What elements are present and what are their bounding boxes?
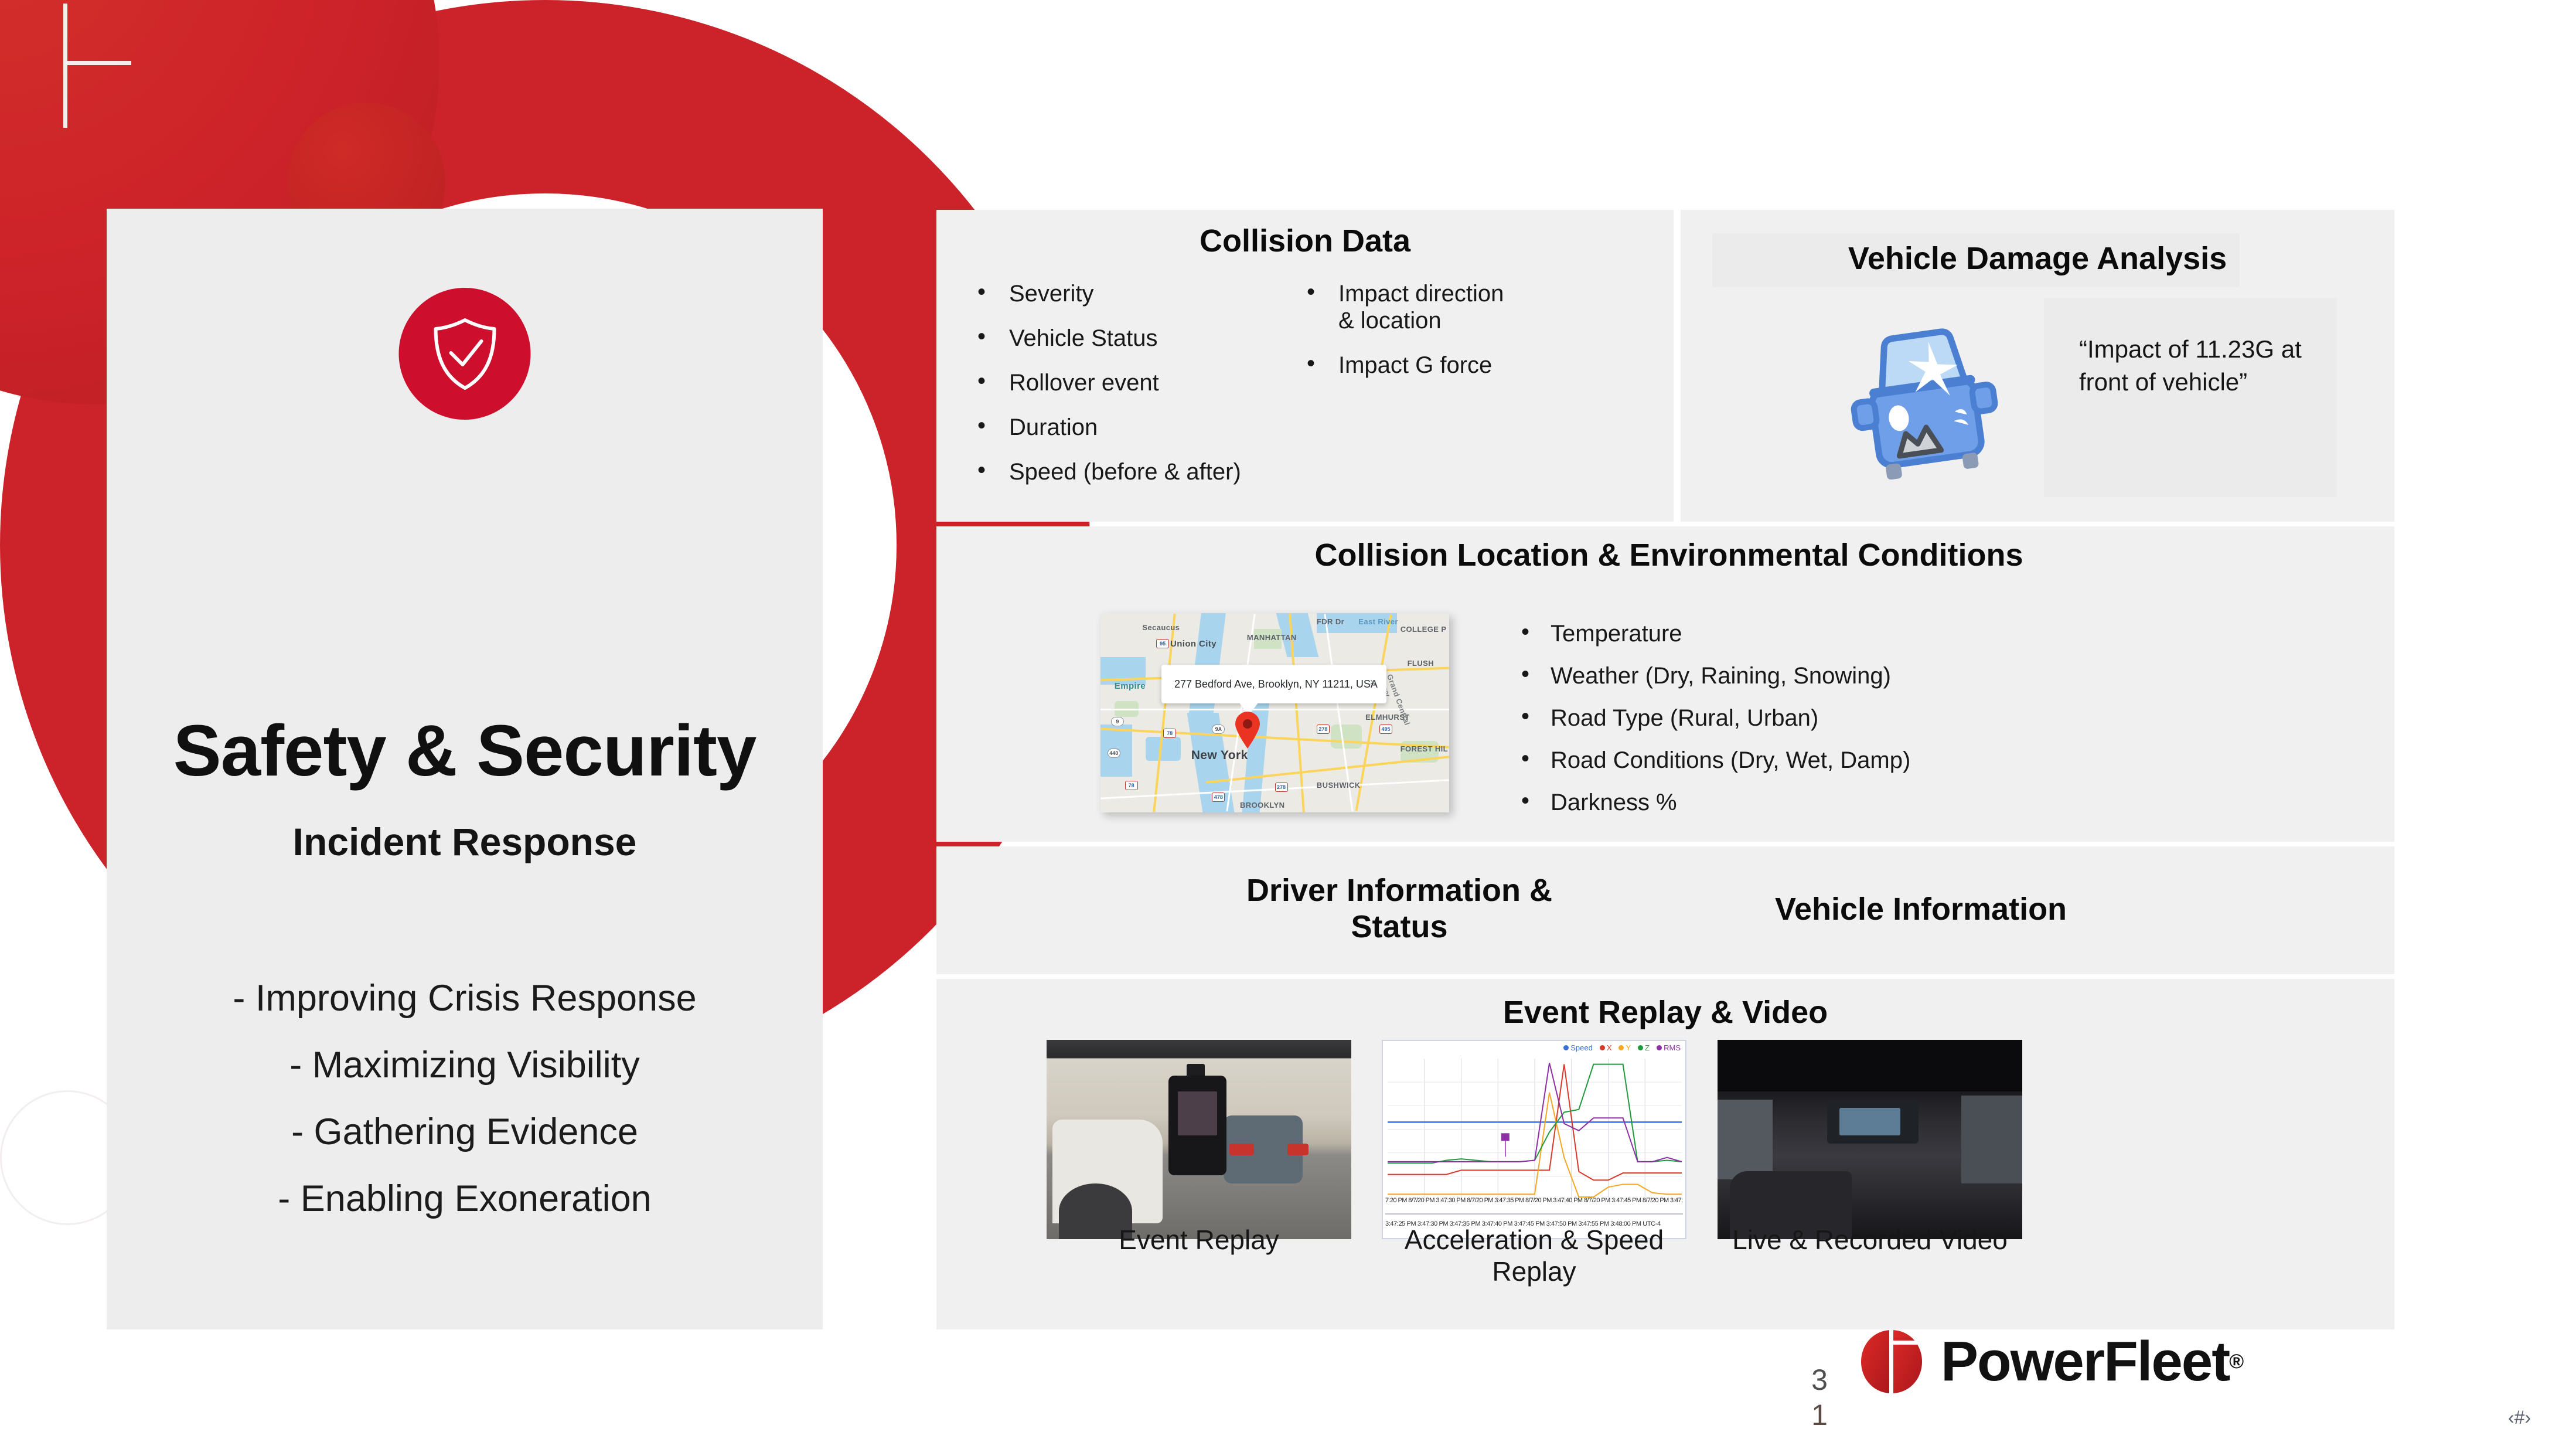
map-label: ELMHURST — [1365, 713, 1409, 722]
registered-mark: ® — [2229, 1351, 2243, 1373]
powerfleet-logo: PowerFleet® — [1858, 1328, 2243, 1396]
acceleration-chart[interactable]: SpeedXYZRMS 7:20 PM 8/7/20 PM 3:47:30 PM… — [1382, 1040, 1686, 1239]
list-item: - Improving Crisis Response — [107, 965, 823, 1032]
legend-label: Speed — [1570, 1043, 1593, 1052]
map-route-shield: 95 — [1156, 639, 1169, 648]
collision-location-title: Collision Location & Environmental Condi… — [1300, 537, 2038, 573]
list-item: Weather (Dry, Raining, Snowing) — [1511, 662, 2272, 689]
map-label: FOREST HIL — [1401, 744, 1448, 753]
list-item: Impact direction & location — [1296, 280, 1519, 334]
collision-data-column-left: Severity Vehicle Status Rollover event D… — [936, 280, 1282, 503]
brand-name: PowerFleet — [1941, 1330, 2229, 1393]
damaged-car-icon — [1838, 315, 2019, 479]
collision-location-map[interactable]: Secaucus Union City MANHATTAN COLLEGE P … — [1100, 613, 1449, 812]
map-route-shield: 495 — [1379, 724, 1392, 734]
powerfleet-wordmark: PowerFleet® — [1941, 1332, 2243, 1391]
slide-canvas: Safety & Security Incident Response - Im… — [0, 0, 2576, 1449]
map-route-shield: 478 — [1212, 792, 1225, 802]
list-item: Severity — [967, 280, 1282, 307]
list-item: Speed (before & after) — [967, 458, 1282, 485]
dashcam-photo[interactable] — [1047, 1040, 1351, 1239]
list-item: Rollover event — [967, 369, 1282, 396]
chart-x-axis-labels: 7:20 PM 8/7/20 PM 3:47:30 PM 8/7/20 PM 3… — [1385, 1197, 1683, 1211]
vehicle-damage-card: Vehicle Damage Analysis “Impact — [1681, 210, 2394, 522]
damage-quote-text: “Impact of 11.23G at front of vehicle” — [2079, 333, 2343, 399]
map-route-shield: 9 — [1111, 717, 1124, 726]
collision-data-column-right: Impact direction & location Impact G for… — [1282, 280, 1634, 503]
list-item: Road Conditions (Dry, Wet, Damp) — [1511, 747, 2272, 774]
map-address-text: 277 Bedford Ave, Brooklyn, NY 11211, USA — [1174, 678, 1378, 691]
event-replay-title: Event Replay & Video — [936, 994, 2394, 1030]
collision-location-card: Collision Location & Environmental Condi… — [936, 526, 2394, 842]
map-label: Union City — [1170, 639, 1217, 649]
list-item: Vehicle Status — [967, 325, 1282, 352]
map-label: Empire — [1115, 681, 1146, 691]
chart-legend-item: Speed — [1563, 1043, 1593, 1052]
list-item: Darkness % — [1511, 789, 2272, 816]
map-route-shield: 9A — [1212, 724, 1225, 734]
map-label: Secaucus — [1142, 623, 1180, 632]
map-label: BROOKLYN — [1240, 801, 1284, 809]
vehicle-damage-title: Vehicle Damage Analysis — [1681, 240, 2394, 277]
chart-plot-area — [1388, 1059, 1682, 1200]
environmental-conditions-list: Temperature Weather (Dry, Raining, Snowi… — [1511, 620, 2272, 831]
list-item: Duration — [967, 414, 1282, 441]
media-caption: Event Replay — [1035, 1224, 1363, 1256]
map-label: BUSHWICK — [1317, 781, 1361, 790]
media-caption: Live & Recorded Video — [1706, 1224, 2034, 1256]
page-number-placeholder: ‹#› — [2508, 1407, 2531, 1428]
list-item: Impact G force — [1296, 352, 1519, 379]
legend-label: Z — [1645, 1043, 1650, 1052]
chart-legend-item: Z — [1638, 1043, 1650, 1052]
map-label: East River — [1358, 617, 1398, 626]
media-caption: Acceleration & Speed Replay — [1370, 1224, 1698, 1287]
chart-legend-item: RMS — [1657, 1043, 1681, 1052]
legend-label: X — [1607, 1043, 1612, 1052]
hero-panel: Safety & Security Incident Response - Im… — [107, 209, 823, 1329]
legend-color-dot — [1618, 1045, 1624, 1050]
chart-annotation — [1501, 1133, 1510, 1157]
legend-label: RMS — [1664, 1043, 1681, 1052]
list-item: Road Type (Rural, Urban) — [1511, 705, 2272, 732]
interior-camera-photo[interactable] — [1718, 1040, 2022, 1239]
chart-legend-item: X — [1600, 1043, 1612, 1052]
page-title: Safety & Security — [107, 710, 823, 792]
list-item: Temperature — [1511, 620, 2272, 647]
legend-color-dot — [1563, 1045, 1569, 1050]
close-icon[interactable]: × — [1369, 676, 1376, 689]
slide-number-top: 3 — [1796, 1363, 1843, 1397]
event-replay-card: Event Replay & Video Event Replay SpeedX… — [936, 979, 2394, 1329]
map-label: COLLEGE P — [1401, 625, 1447, 634]
page-subtitle: Incident Response — [107, 819, 823, 864]
chart-legend-item: Y — [1618, 1043, 1631, 1052]
map-route-shield: 278 — [1275, 783, 1288, 792]
slide-number-bottom: 1 — [1796, 1398, 1843, 1432]
map-label: FLUSH — [1408, 659, 1434, 668]
vehicle-information-title: Vehicle Information — [1675, 891, 2167, 927]
map-route-shield: 78 — [1125, 781, 1138, 790]
benefit-list: - Improving Crisis Response - Maximizing… — [107, 965, 823, 1232]
legend-label: Y — [1626, 1043, 1631, 1052]
map-label: New York — [1191, 749, 1248, 763]
collision-data-card: Collision Data Severity Vehicle Status R… — [936, 210, 1674, 522]
map-water — [1146, 737, 1181, 761]
powerfleet-mark-icon — [1858, 1328, 1926, 1396]
map-address-callout: 277 Bedford Ave, Brooklyn, NY 11211, USA… — [1161, 665, 1386, 703]
legend-color-dot — [1600, 1045, 1605, 1050]
map-label: MANHATTAN — [1247, 633, 1297, 642]
chart-legend: SpeedXYZRMS — [1563, 1043, 1681, 1052]
shield-check-icon — [399, 288, 531, 420]
driver-information-title: Driver Information & Status — [1229, 872, 1569, 945]
collision-data-columns: Severity Vehicle Status Rollover event D… — [936, 280, 1674, 503]
map-park — [1331, 724, 1362, 749]
list-item: - Enabling Exoneration — [107, 1165, 823, 1232]
list-item: - Maximizing Visibility — [107, 1032, 823, 1098]
collision-data-title: Collision Data — [936, 223, 1674, 259]
driver-vehicle-card: Driver Information & Status Vehicle Info… — [936, 846, 2394, 974]
map-label: FDR Dr — [1317, 617, 1344, 626]
list-item: - Gathering Evidence — [107, 1098, 823, 1165]
map-pin-icon — [1234, 712, 1261, 749]
chart-divider — [1385, 1213, 1683, 1215]
legend-color-dot — [1638, 1045, 1643, 1050]
legend-color-dot — [1657, 1045, 1662, 1050]
map-route-shield: 278 — [1317, 724, 1330, 734]
map-route-shield: 440 — [1108, 749, 1120, 758]
map-route-shield: 78 — [1163, 729, 1176, 738]
